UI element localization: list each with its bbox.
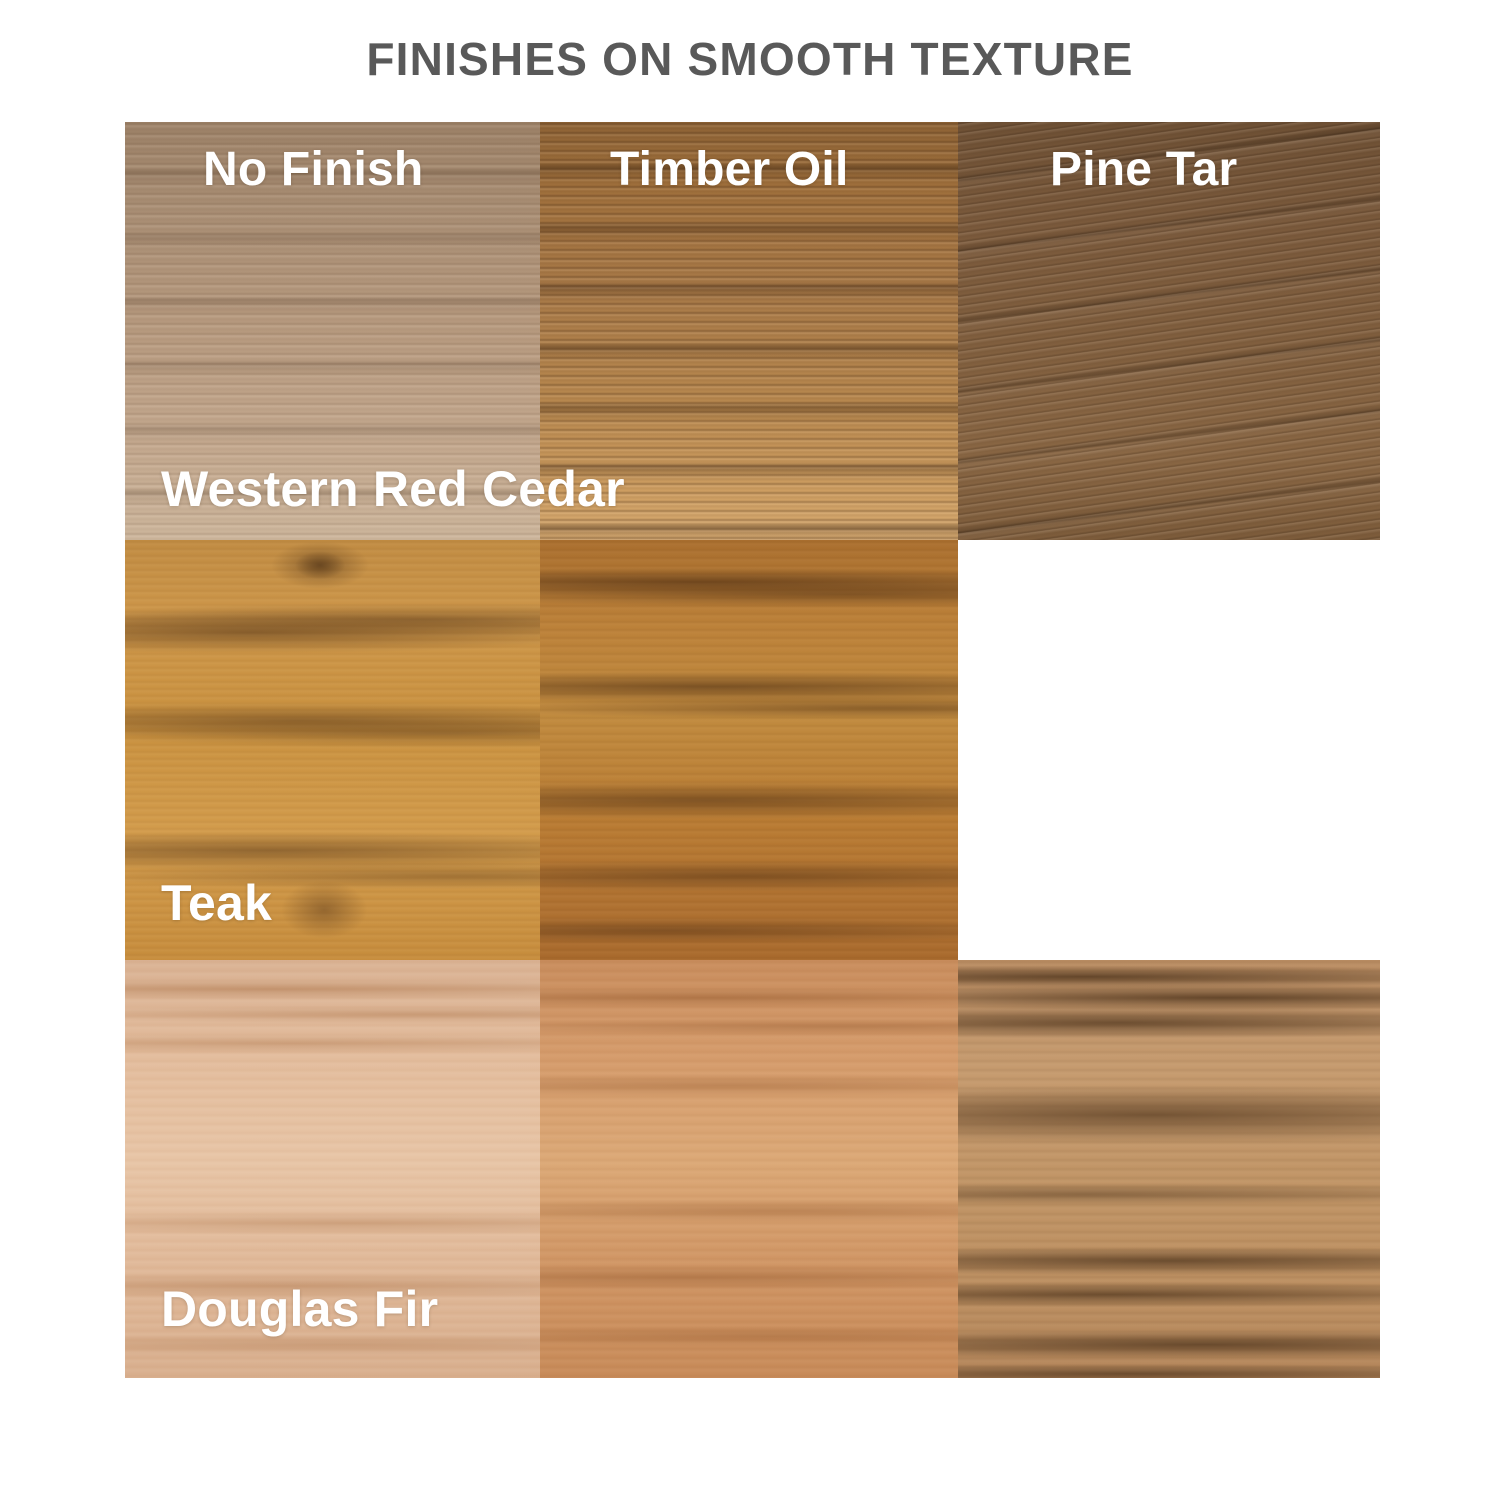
wood-texture-douglas-fir-timber-oil (540, 960, 958, 1378)
swatch-grid: No Finish Timber Oil Pine Tar Western Re… (125, 122, 1380, 1378)
wood-texture-douglas-fir-pine-tar (958, 960, 1380, 1378)
column-label-timber-oil: Timber Oil (610, 142, 849, 197)
row-label-western-red-cedar: Western Red Cedar (161, 460, 625, 518)
wood-texture-teak-timber-oil (540, 540, 958, 960)
swatch-cell-teak-timber-oil[interactable] (540, 540, 958, 960)
row-label-teak: Teak (161, 874, 272, 932)
swatch-cell-douglas-fir-timber-oil[interactable] (540, 960, 958, 1378)
swatch-cell-douglas-fir-pine-tar[interactable] (958, 960, 1380, 1378)
swatch-cell-teak-pine-tar-empty (958, 540, 1380, 960)
page-title: FINISHES ON SMOOTH TEXTURE (0, 32, 1500, 86)
row-label-douglas-fir: Douglas Fir (161, 1280, 438, 1338)
column-label-pine-tar: Pine Tar (1050, 142, 1237, 197)
column-label-no-finish: No Finish (203, 142, 423, 197)
